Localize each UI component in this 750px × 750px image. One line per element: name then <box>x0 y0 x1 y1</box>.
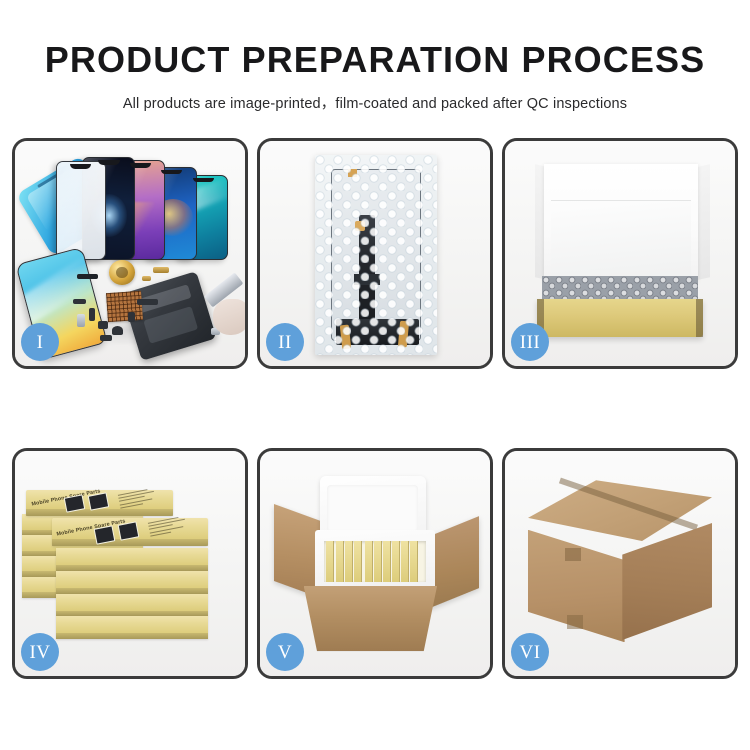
part-small-module <box>98 321 108 329</box>
part-small-module <box>89 308 96 322</box>
carton-tape-mark <box>567 615 583 629</box>
box-window-phone <box>94 525 116 545</box>
part-camera-module <box>128 312 135 322</box>
part-gold-contact <box>153 267 169 273</box>
step-badge-5: V <box>266 633 304 671</box>
process-step-4: Mobile Phone Spare Parts Mobile Phone Sp… <box>12 448 248 679</box>
step-badge-6: VI <box>511 633 549 671</box>
page-subtitle: All products are image-printed，film-coat… <box>0 78 750 113</box>
step-badge-3: III <box>511 323 549 361</box>
box-slab <box>56 616 207 639</box>
part-flex-cable <box>137 299 158 306</box>
header: PRODUCT PREPARATION PROCESS All products… <box>0 0 750 113</box>
product-preparation-infographic: PRODUCT PREPARATION PROCESS All products… <box>0 0 750 750</box>
phone-notch <box>70 164 91 168</box>
process-step-1: I <box>12 138 248 369</box>
process-step-grid: I II <box>12 138 738 680</box>
box-stack: Mobile Phone Spare Parts Mobile Phone Sp… <box>22 469 238 658</box>
copper-chip-grid <box>106 291 142 323</box>
box-slab <box>56 548 207 571</box>
part-flex-cable <box>73 299 87 304</box>
carton-tape-mark <box>565 548 581 562</box>
tempered-glass-front <box>56 161 106 260</box>
process-step-5: V <box>257 448 493 679</box>
part-speaker <box>112 326 124 335</box>
process-step-2: II <box>257 138 493 369</box>
part-gold-contact <box>142 276 151 281</box>
phone-notch <box>130 163 151 167</box>
box-slab <box>56 594 207 617</box>
yellow-boxes-inside <box>324 541 425 582</box>
phone-notch <box>98 160 120 165</box>
step-badge-2: II <box>266 323 304 361</box>
bubble-texture <box>315 155 437 355</box>
process-step-6: VI <box>502 448 738 679</box>
carton-top-panel <box>528 480 712 541</box>
phone-notch <box>193 178 214 182</box>
part-flex-cable <box>77 274 98 279</box>
gold-coil-part <box>109 260 134 285</box>
carton-right-panel <box>622 523 712 640</box>
page-title: PRODUCT PREPARATION PROCESS <box>0 0 750 78</box>
carton-front-panel <box>304 586 437 651</box>
kraft-box-front <box>537 299 703 337</box>
white-foam-sheet <box>551 200 691 280</box>
part-metal-bracket <box>77 314 85 327</box>
bubble-wrap-bag <box>315 155 437 355</box>
hand <box>213 299 245 335</box>
phone-notch <box>161 170 182 174</box>
step-badge-4: IV <box>21 633 59 671</box>
part-small-module <box>100 335 112 342</box>
step-badge-1: I <box>21 323 59 361</box>
box-slab <box>56 571 207 594</box>
phone-fan-group <box>73 157 239 261</box>
process-step-3: III <box>502 138 738 369</box>
